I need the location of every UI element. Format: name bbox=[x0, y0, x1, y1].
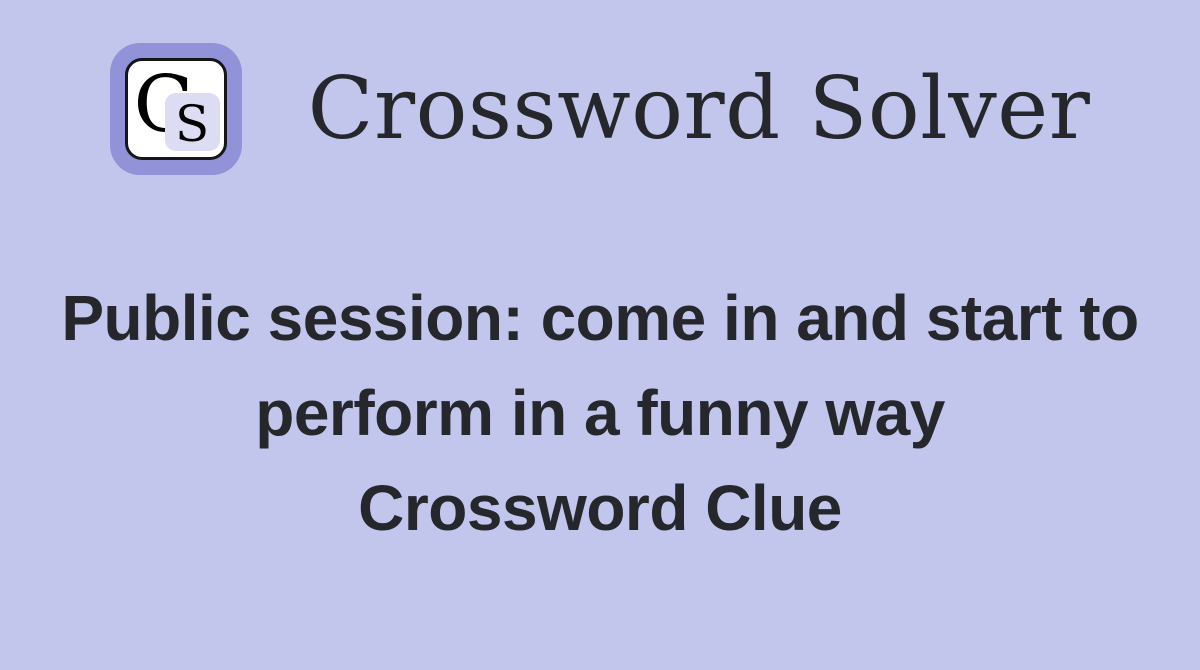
logo-letter-s: S bbox=[165, 93, 220, 151]
logo-s-tile: S bbox=[165, 93, 220, 151]
page-title: Public session: come in and start to per… bbox=[50, 271, 1150, 556]
site-header: C S Crossword Solver bbox=[0, 26, 1200, 192]
crossword-solver-page: C S Crossword Solver Public session: com… bbox=[0, 0, 1200, 670]
clue-text: Public session: come in and start to per… bbox=[61, 282, 1138, 449]
clue-suffix: Crossword Clue bbox=[358, 472, 842, 544]
logo-inner-tile: C S bbox=[125, 58, 227, 160]
site-title[interactable]: Crossword Solver bbox=[308, 66, 1091, 152]
crossword-solver-logo-icon[interactable]: C S bbox=[110, 43, 242, 175]
